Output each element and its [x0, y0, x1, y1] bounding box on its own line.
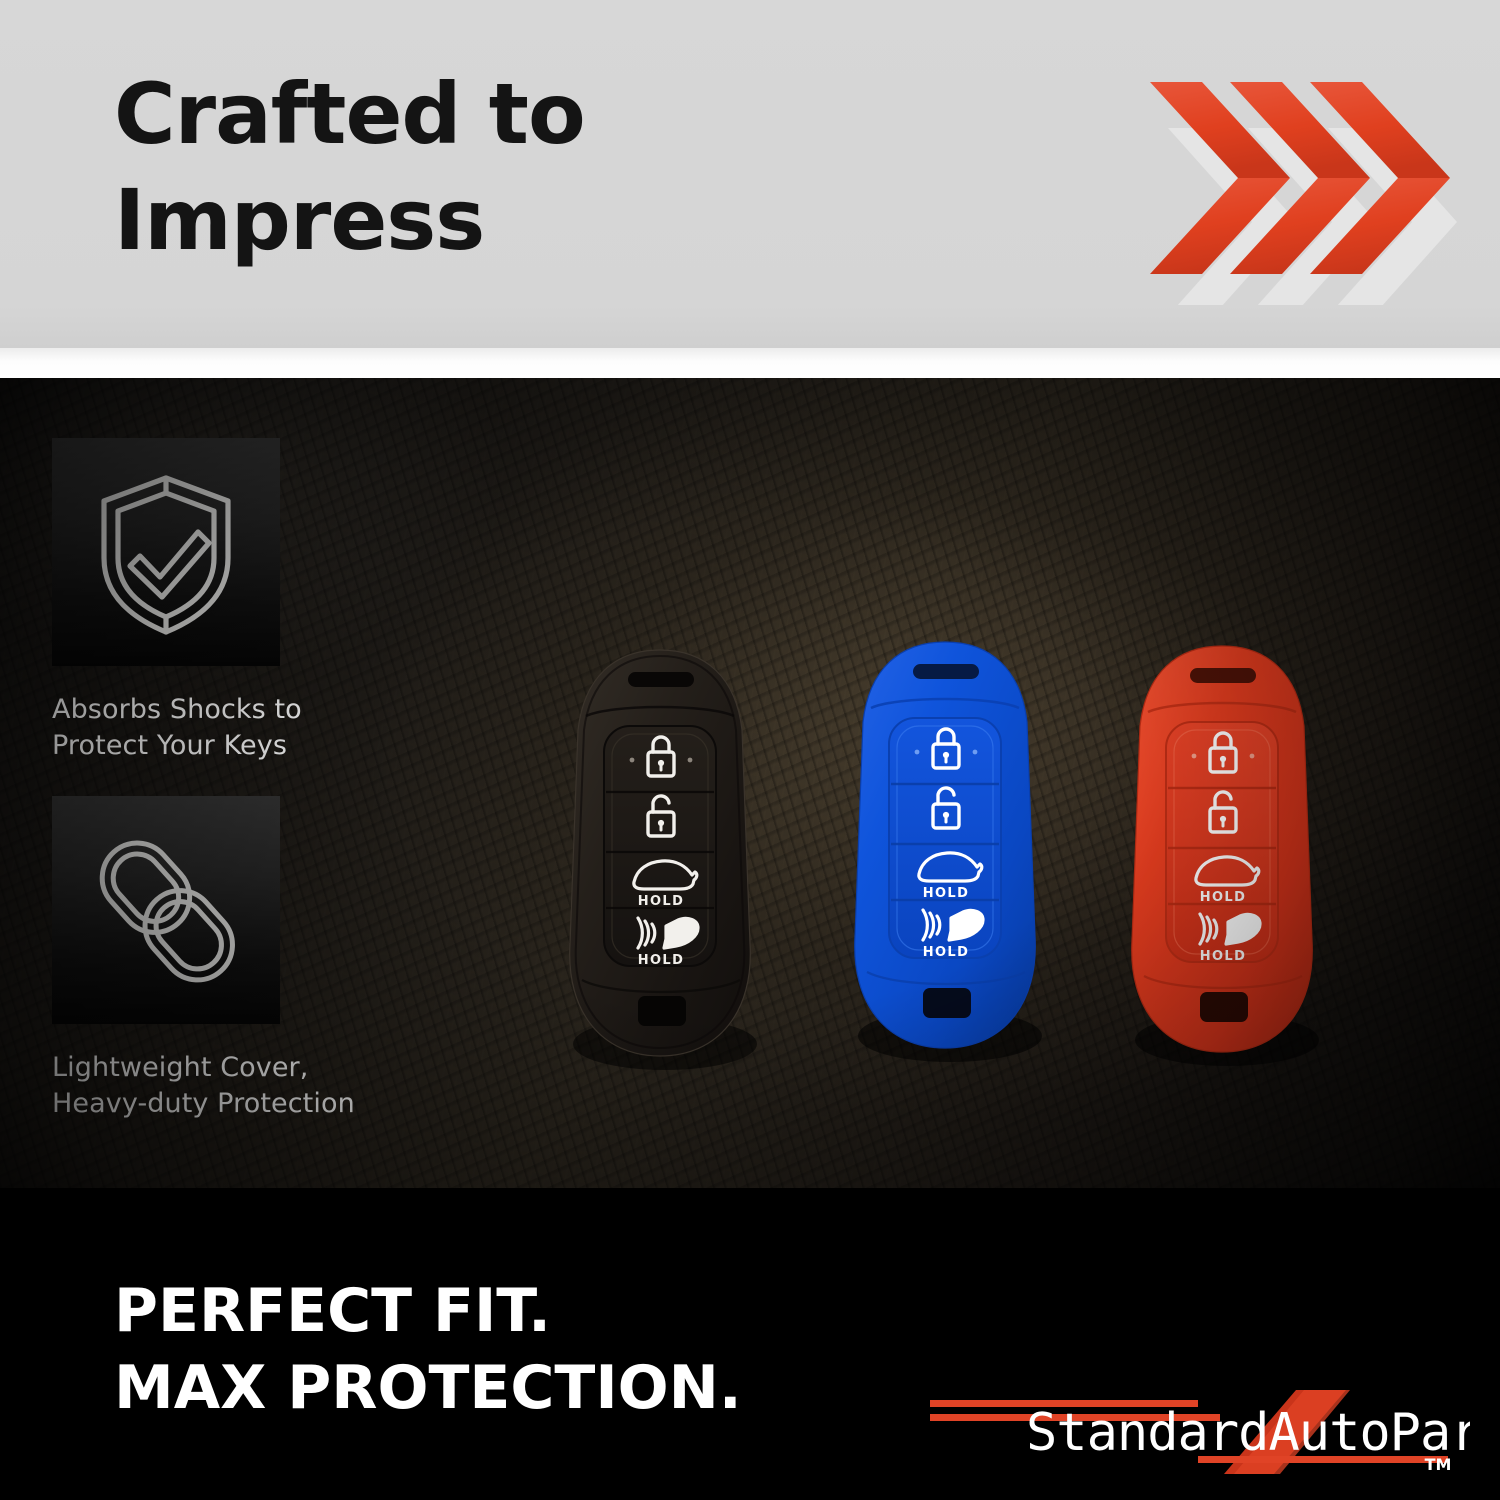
product-photo-stage: Absorbs Shocks to Protect Your Keys Ligh… — [0, 378, 1500, 1188]
tagline: PERFECT FIT. MAX PROTECTION. — [114, 1273, 742, 1427]
triple-chevron-right-icon — [1150, 70, 1480, 305]
header-divider — [0, 348, 1500, 378]
brand-logo: StandardAutoPart TM — [930, 1378, 1470, 1478]
page-title: Crafted to Impress — [114, 62, 585, 274]
product-marketing-image: Crafted to Impress — [0, 0, 1500, 1500]
brand-name: StandardAutoPart — [1026, 1403, 1470, 1463]
trademark-symbol: TM — [1425, 1455, 1452, 1474]
photo-vignette — [0, 378, 1500, 1188]
header-banner: Crafted to Impress — [0, 0, 1500, 348]
